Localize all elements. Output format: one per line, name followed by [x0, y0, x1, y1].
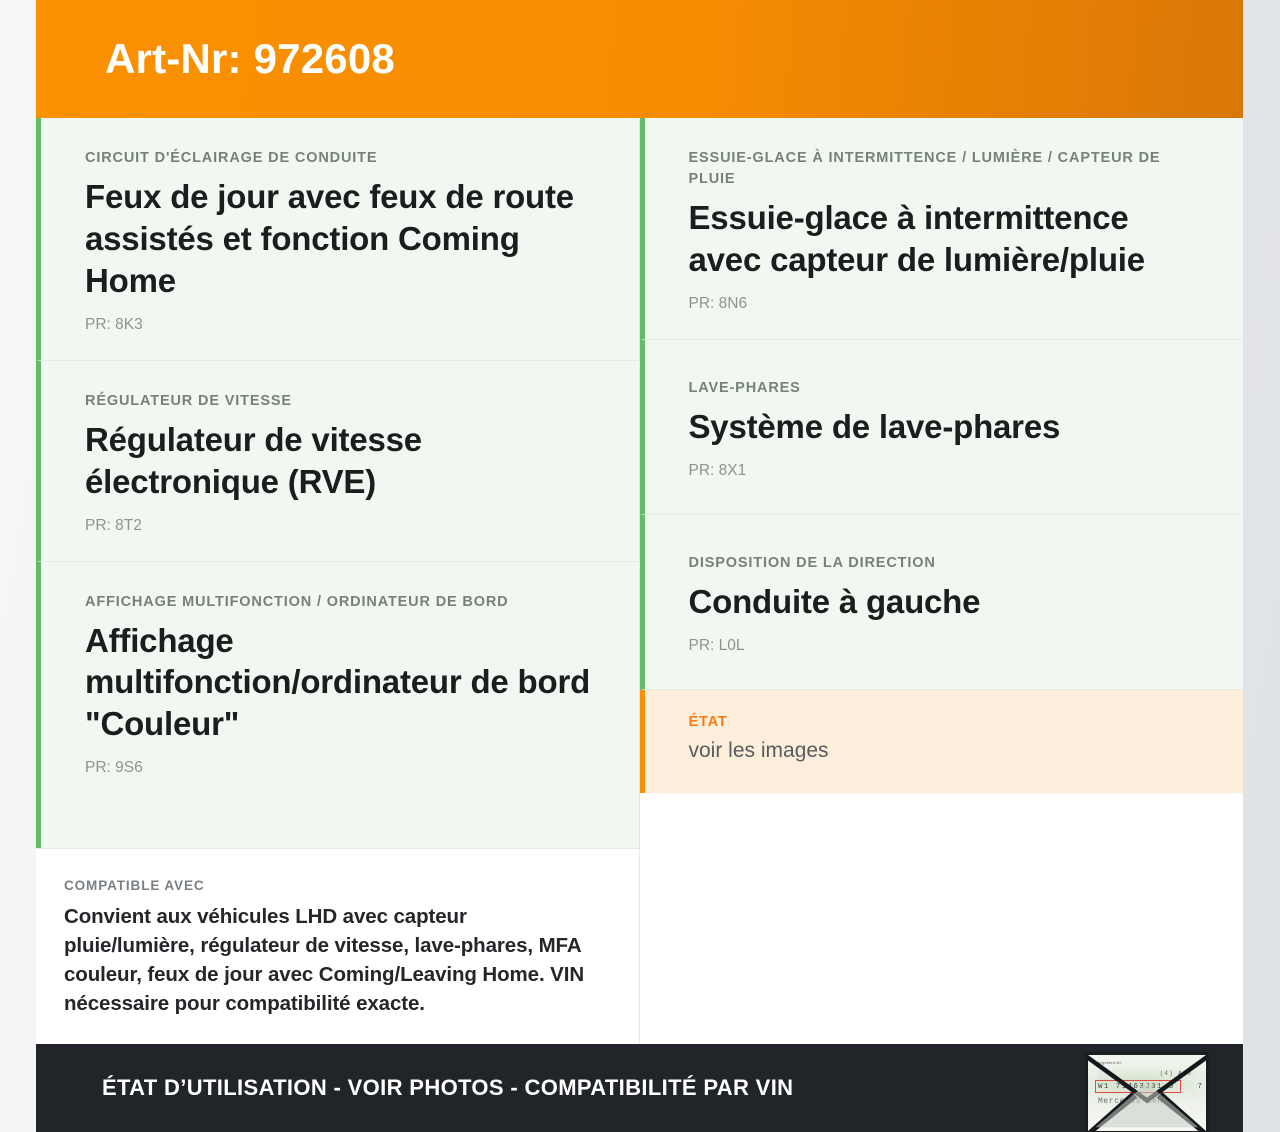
compatibility-block: COMPATIBLE AVEC Convient aux véhicules L…	[36, 848, 640, 1044]
state-label: ÉTAT	[689, 714, 1200, 730]
feature-title: Essuie-glace à intermittence avec capteu…	[689, 197, 1200, 281]
feature-card[interactable]: RÉGULATEUR DE VITESSE Régulateur de vite…	[36, 361, 639, 562]
feature-card[interactable]: ESSUIE-GLACE À INTERMITTENCE / LUMIÈRE /…	[640, 118, 1244, 340]
compatibility-text: Convient aux véhicules LHD avec capteur …	[64, 902, 595, 1018]
feature-label: CIRCUIT D'ÉCLAIRAGE DE CONDUITE	[85, 148, 595, 169]
feature-title: Feux de jour avec feux de route assistés…	[85, 176, 595, 302]
feature-label: AFFICHAGE MULTIFONCTION / ORDINATEUR DE …	[85, 592, 595, 613]
compatibility-row: COMPATIBLE AVEC Convient aux véhicules L…	[36, 848, 1243, 1044]
feature-title: Conduite à gauche	[689, 581, 1200, 623]
product-detail-card: Art-Nr: 972608 CIRCUIT D'ÉCLAIRAGE DE CO…	[36, 0, 1243, 1132]
feature-card[interactable]: DISPOSITION DE LA DIRECTION Conduite à g…	[640, 515, 1244, 690]
feature-pr-code: PR: 8N6	[689, 295, 1200, 313]
column-filler-left	[36, 803, 639, 847]
feature-label: RÉGULATEUR DE VITESSE	[85, 391, 595, 412]
features-column-left: CIRCUIT D'ÉCLAIRAGE DE CONDUITE Feux de …	[36, 118, 640, 848]
page-title: Art-Nr: 972608	[105, 38, 395, 80]
feature-label: ESSUIE-GLACE À INTERMITTENCE / LUMIÈRE /…	[689, 148, 1200, 190]
feature-label: LAVE-PHARES	[689, 378, 1200, 399]
vin-document-thumbnail[interactable]: Fahrgestell-Nr. (4) A16 W1 71463J31 5 7 …	[1085, 1052, 1209, 1132]
features-grid: CIRCUIT D'ÉCLAIRAGE DE CONDUITE Feux de …	[36, 118, 1243, 848]
feature-title: Affichage multifonction/ordinateur de bo…	[85, 620, 595, 746]
feature-card[interactable]: LAVE-PHARES Système de lave-phares PR: 8…	[640, 340, 1244, 515]
feature-title: Régulateur de vitesse électronique (RVE)	[85, 419, 595, 503]
state-value: voir les images	[689, 739, 1200, 763]
envelope-icon	[1088, 1055, 1206, 1131]
feature-label: DISPOSITION DE LA DIRECTION	[689, 553, 1200, 574]
feature-title: Système de lave-phares	[689, 406, 1200, 448]
compatibility-label: COMPATIBLE AVEC	[64, 878, 595, 893]
footer-bar: ÉTAT D’UTILISATION - VOIR PHOTOS - COMPA…	[36, 1044, 1243, 1132]
feature-pr-code: PR: 9S6	[85, 759, 595, 777]
feature-card[interactable]: CIRCUIT D'ÉCLAIRAGE DE CONDUITE Feux de …	[36, 118, 639, 361]
column-filler-right	[640, 793, 1244, 848]
feature-pr-code: PR: 8T2	[85, 517, 595, 535]
header-bar: Art-Nr: 972608	[36, 0, 1243, 118]
feature-pr-code: PR: L0L	[689, 637, 1200, 655]
feature-pr-code: PR: 8X1	[689, 462, 1200, 480]
footer-notice: ÉTAT D’UTILISATION - VOIR PHOTOS - COMPA…	[36, 1075, 793, 1101]
feature-pr-code: PR: 8K3	[85, 316, 595, 334]
state-card[interactable]: ÉTAT voir les images	[640, 690, 1244, 793]
feature-card[interactable]: AFFICHAGE MULTIFONCTION / ORDINATEUR DE …	[36, 562, 639, 804]
features-column-right: ESSUIE-GLACE À INTERMITTENCE / LUMIÈRE /…	[640, 118, 1244, 848]
